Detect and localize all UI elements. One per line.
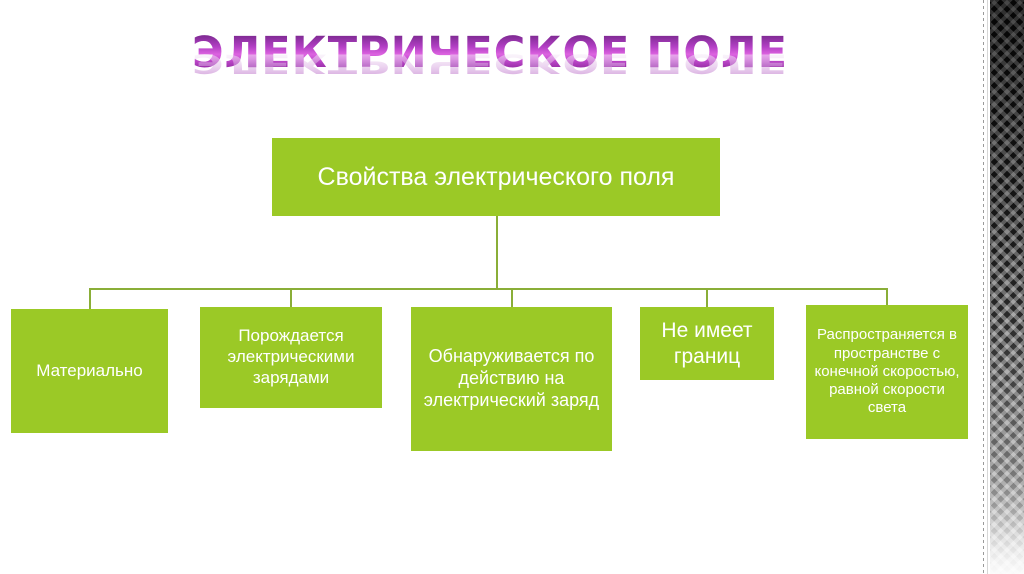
connector-drop-5	[886, 288, 888, 305]
diagram-root-node[interactable]: Свойства электрического поля	[272, 138, 720, 216]
connector-drop-2	[290, 288, 292, 307]
connector-drop-4	[706, 288, 708, 307]
diagram-child-node-2[interactable]: Порождается электрическими зарядами	[200, 307, 382, 408]
diagram-child-node-4[interactable]: Не имеет границ	[640, 307, 774, 380]
connector-drop-3	[511, 288, 513, 307]
slide-canvas: ЭЛЕКТРИЧЕСКОЕ ПОЛЕ ЭЛЕКТРИЧЕСКОЕ ПОЛЕ Св…	[0, 0, 1024, 574]
edge-solid-rule	[987, 0, 988, 574]
halftone-diamond-band	[990, 0, 1024, 574]
page-title-reflection: ЭЛЕКТРИЧЕСКОЕ ПОЛЕ	[0, 49, 980, 76]
connector-drop-1	[89, 288, 91, 309]
edge-dashed-rule	[983, 0, 984, 574]
title-reflection-fade	[0, 86, 980, 120]
slide-title-block: ЭЛЕКТРИЧЕСКОЕ ПОЛЕ ЭЛЕКТРИЧЕСКОЕ ПОЛЕ	[0, 32, 980, 119]
diagram-child-node-5[interactable]: Распространяется в пространстве с конечн…	[806, 305, 968, 439]
diagram-child-node-3[interactable]: Обнаруживается по действию на электричес…	[411, 307, 612, 451]
connector-root-vertical	[496, 216, 498, 289]
connector-horizontal-bus	[89, 288, 887, 290]
page-title: ЭЛЕКТРИЧЕСКОЕ ПОЛЕ	[192, 32, 788, 75]
diagram-child-node-1[interactable]: Материально	[11, 309, 168, 433]
